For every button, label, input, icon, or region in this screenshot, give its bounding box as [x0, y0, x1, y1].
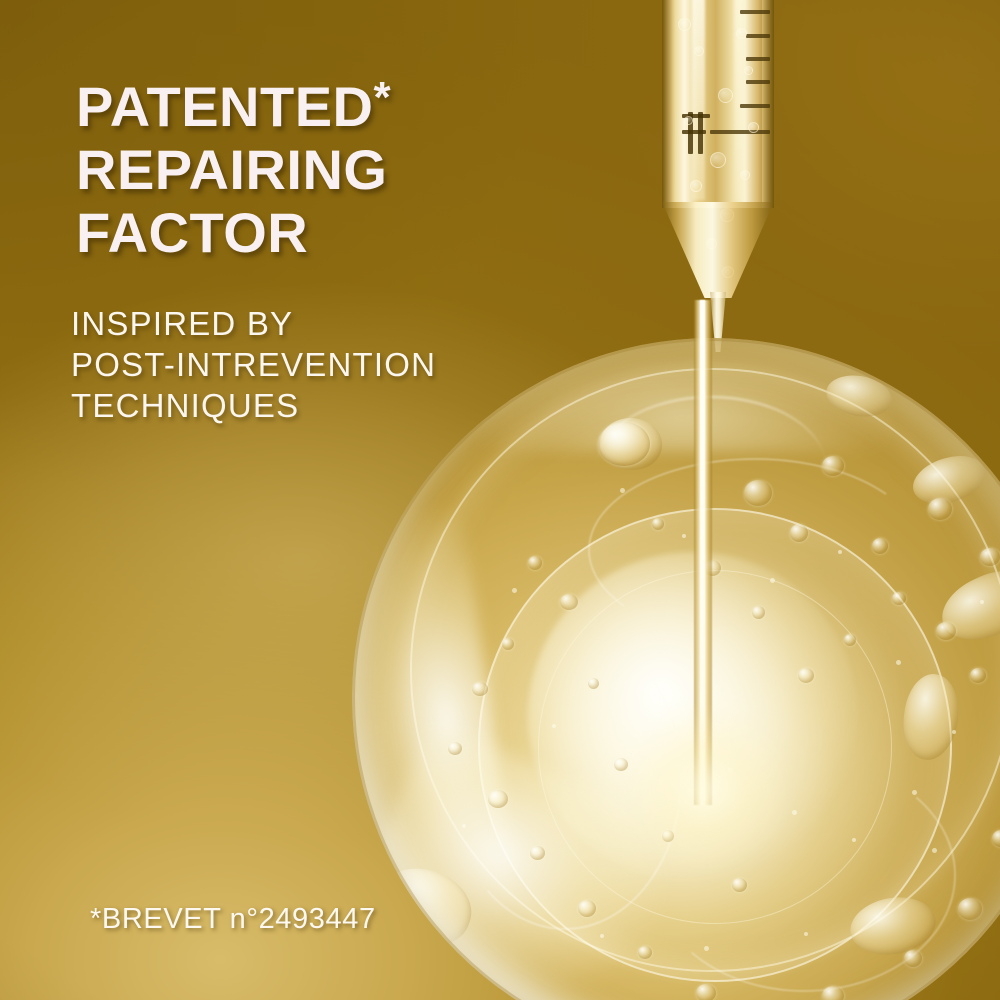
subheadline-line-2: POST-INTREVENTION [71, 346, 436, 383]
advertisement-canvas: PATENTED* REPAIRING FACTOR INSPIRED BY P… [0, 0, 1000, 1000]
headline-asterisk: * [373, 73, 391, 122]
headline-line-3: FACTOR [76, 201, 308, 264]
subheadline: INSPIRED BY POST-INTREVENTION TECHNIQUES [71, 303, 436, 426]
patent-footnote: *BREVET n°2493447 [90, 903, 376, 936]
subheadline-line-1: INSPIRED BY [71, 305, 293, 342]
headline-line-2: REPAIRING [76, 138, 388, 201]
headline-line-1: PATENTED [76, 75, 373, 138]
page-title: PATENTED* REPAIRING FACTOR [76, 66, 391, 264]
subheadline-line-3: TECHNIQUES [71, 387, 299, 424]
